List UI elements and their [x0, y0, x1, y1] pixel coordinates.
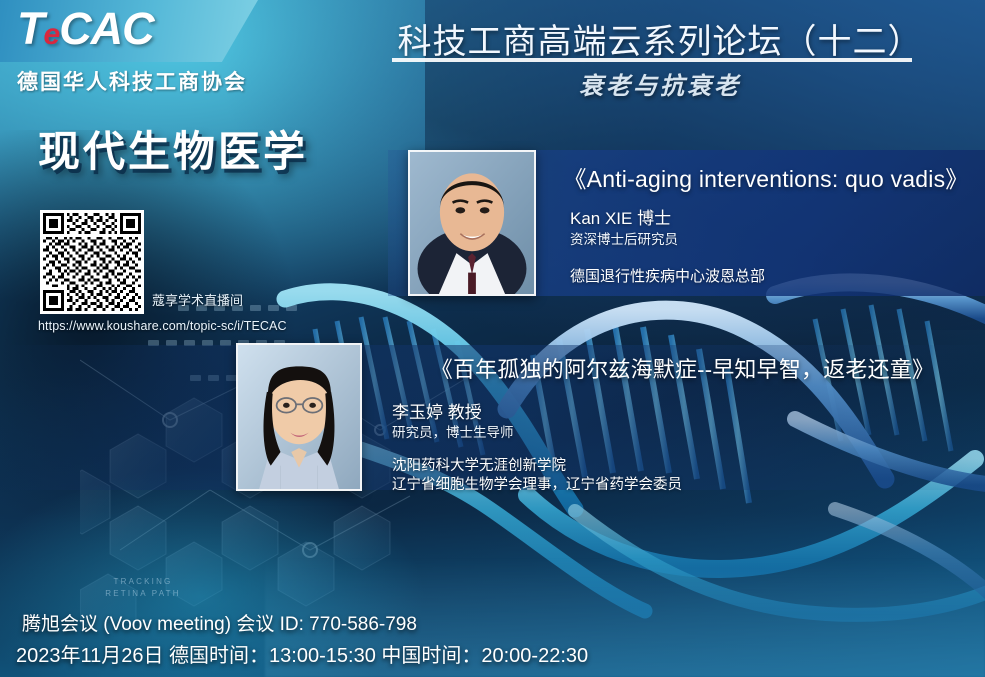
speaker-1-name: Kan XIE 博士 — [570, 204, 671, 229]
speaker-1-talk-title: 《Anti-aging interventions: quo vadis》 — [556, 160, 976, 194]
speaker-2-organization-line-1: 沈阳药科大学无涯创新学院 — [392, 454, 566, 475]
speaker-1-photo — [408, 150, 536, 296]
watermark-text: TRACKING RETINA PATH — [68, 576, 218, 600]
logo-letter-t: T — [17, 3, 44, 54]
logo-wordmark: TeCAC — [17, 3, 154, 55]
watermark-line-1: TRACKING — [68, 576, 218, 588]
speaker-2-role: 研究员，博士生导师 — [392, 421, 514, 441]
section-heading: 现代生物医学 — [38, 118, 308, 179]
speaker-2-name: 李玉婷 教授 — [392, 398, 482, 423]
logo-letters-cac: CAC — [59, 3, 154, 54]
date-time-info: 2023年11月26日 德国时间：13:00-15:30 中国时间：20:00-… — [16, 639, 588, 668]
association-name: 德国华人科技工商协会 — [17, 66, 247, 96]
logo-letter-e: e — [44, 18, 60, 51]
qr-url[interactable]: https://www.koushare.com/topic-sc/i/TECA… — [38, 319, 287, 333]
speaker-2-photo — [236, 343, 362, 491]
watermark-line-2: RETINA PATH — [68, 588, 218, 600]
forum-subtitle: 衰老与抗衰老 — [380, 66, 940, 101]
speaker-2-organization-line-2: 辽宁省细胞生物学会理事，辽宁省药学会委员 — [392, 473, 682, 494]
meeting-info: 腾旭会议 (Voov meeting) 会议 ID: 770-586-798 — [22, 609, 417, 636]
event-poster: TRACKING RETINA PATH TeCAC 德国华人科技工商协会 科技… — [0, 0, 985, 677]
speaker-2-talk-title: 《百年孤独的阿尔兹海默症--早知早智，返老还童》 — [380, 352, 985, 384]
title-underline-rule — [392, 58, 912, 62]
speaker-1-role: 资深博士后研究员 — [570, 228, 678, 248]
speaker-1-organization: 德国退行性疾病中心波恩总部 — [570, 265, 765, 286]
tecac-logo: TeCAC — [0, 0, 258, 62]
qr-code[interactable] — [40, 210, 144, 314]
qr-label: 蔻享学术直播间 — [152, 290, 243, 309]
forum-title: 科技工商高端云系列论坛（十二） — [380, 14, 940, 63]
